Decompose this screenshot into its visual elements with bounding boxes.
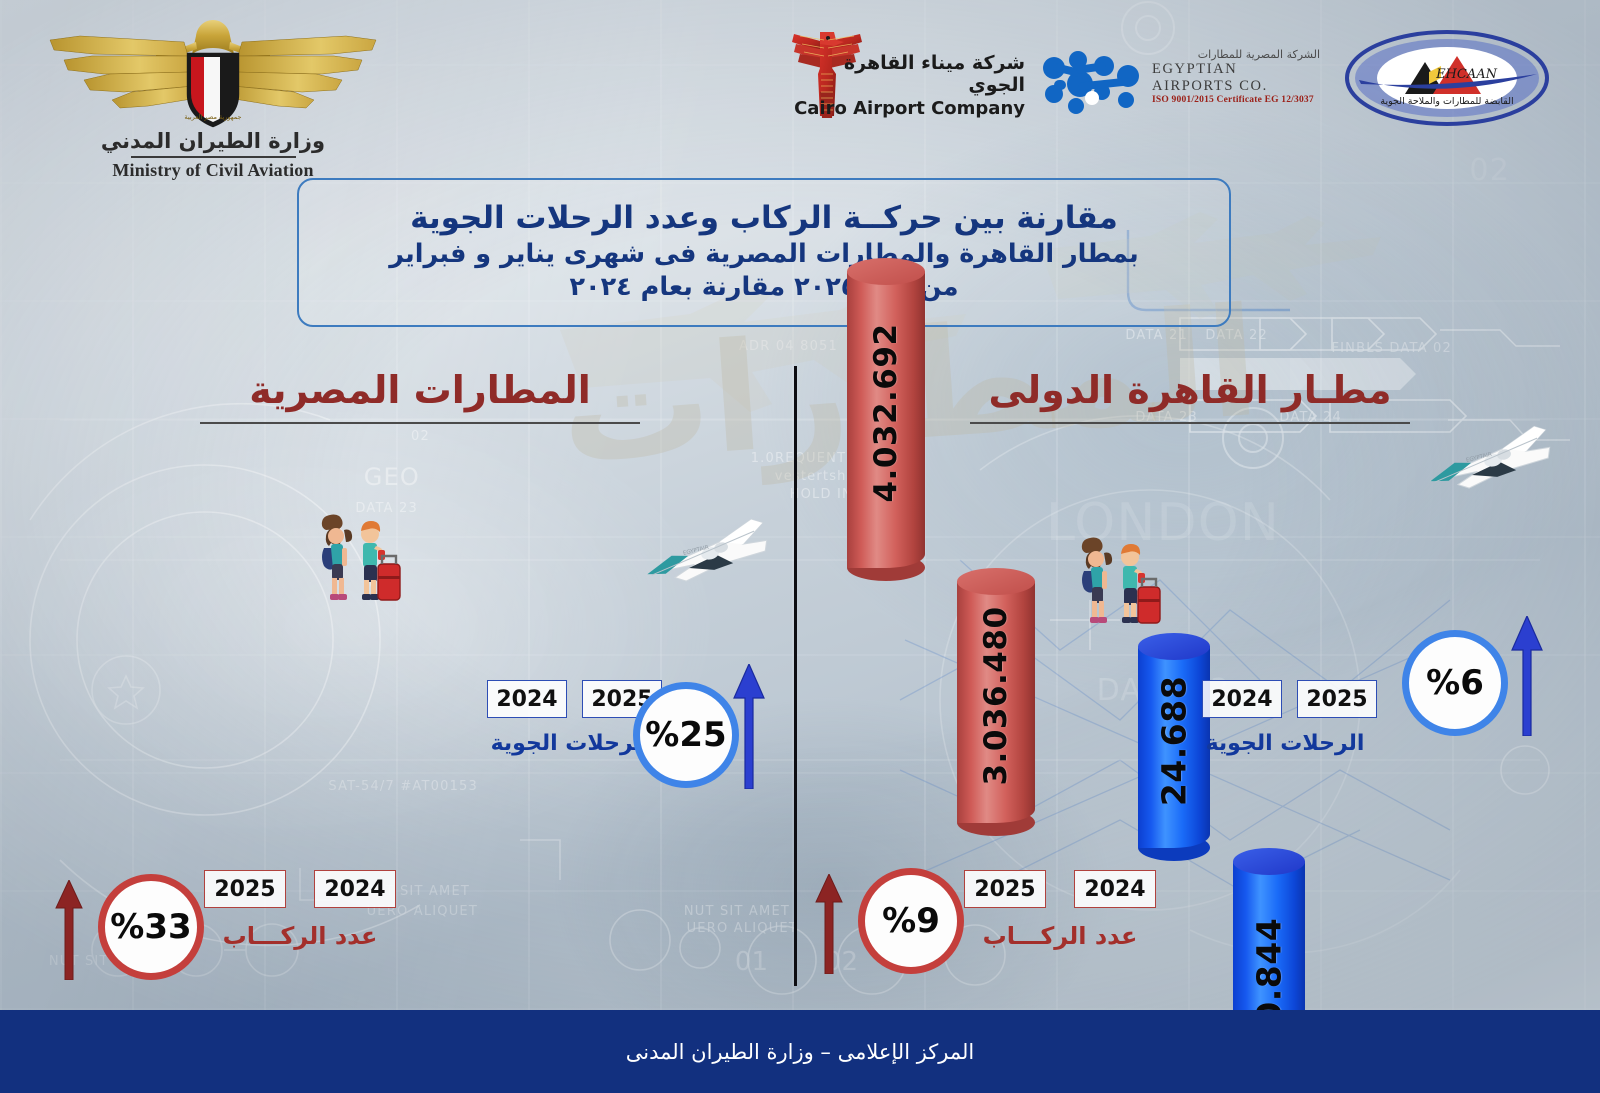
cairo-airport-header: مطـار القاهرة الدولى <box>810 368 1570 424</box>
ehcaan-english-text: EHCAAN <box>1435 67 1498 82</box>
bar-top-ellipse <box>847 258 925 285</box>
year-tag-egyptian-passengers-2024: 2024 <box>314 870 396 908</box>
svg-text:جمهورية مصر العربية: جمهورية مصر العربية <box>184 113 241 121</box>
year-tag-egyptian-flights-2024: 2024 <box>487 680 567 718</box>
up-arrow-cairo-passengers <box>814 874 844 978</box>
logo-cairo-airport-company: شركة ميناء القاهرة الجوي Cairo Airport C… <box>790 30 1025 122</box>
panel-egyptian-airports: المطارات المصرية 4.032.692 2025 3.036.48… <box>60 368 780 968</box>
up-arrow-egyptian-passengers <box>54 880 84 984</box>
egyptian-airports-iso-text: ISO 9001/2015 Certificate EG 12/3037 <box>1152 95 1320 105</box>
airplane-illustration-cairo: EGYPTAIR <box>1408 418 1556 500</box>
travelers-illustration-egyptian-passengers <box>310 514 406 610</box>
airplane-illustration-egyptian: EGYPTAIR <box>625 511 773 593</box>
egyptian-airports-title-rule <box>200 422 640 424</box>
title-line-1: مقارنة بين حركــة الركاب وعدد الرحلات ال… <box>410 200 1118 238</box>
cairo-airport-label-arabic: شركة ميناء القاهرة الجوي <box>790 52 1025 96</box>
travelers-illustration-cairo-passengers <box>1070 537 1166 633</box>
ministry-label-rule <box>131 156 296 158</box>
ministry-label-arabic: وزارة الطيران المدني <box>38 130 388 153</box>
year-tag-egyptian-passengers-2025: 2025 <box>204 870 286 908</box>
cairo-airport-label-english: Cairo Airport Company <box>790 98 1025 119</box>
footer-bar: المركز الإعلامى – وزارة الطيران المدنى <box>0 1010 1600 1093</box>
logo-egyptian-airports-co: الشركة المصرية للمطارات EGYPTIAN AIRPORT… <box>1040 48 1320 114</box>
ministry-wings-emblem: جمهورية مصر العربية <box>38 12 388 130</box>
ehcaan-emblem-icon: EHCAAN القابضة للمطارات والملاحة الجوية <box>1345 28 1550 128</box>
egyptian-airports-title: المطارات المصرية <box>60 368 780 412</box>
pct-badge-cairo-flights: %6 <box>1402 630 1508 736</box>
cairo-airport-title: مطـار القاهرة الدولى <box>810 368 1570 412</box>
year-tag-cairo-passengers-2024: 2024 <box>1074 870 1156 908</box>
egyptian-airports-mark-icon <box>1040 50 1144 114</box>
logo-ehcaan: EHCAAN القابضة للمطارات والملاحة الجوية <box>1345 28 1550 128</box>
panel-divider <box>794 366 797 986</box>
group-label-egyptian-passengers: عدد الركـــاب <box>195 922 405 950</box>
pct-badge-cairo-passengers: %9 <box>858 868 964 974</box>
main-title-box: مقارنة بين حركــة الركاب وعدد الرحلات ال… <box>297 178 1231 327</box>
group-label-cairo-passengers: عدد الركـــاب <box>955 922 1165 950</box>
year-tag-cairo-passengers-2025: 2025 <box>964 870 1046 908</box>
up-arrow-cairo-flights <box>1510 616 1544 740</box>
group-label-cairo-flights: الرحلات الجوية <box>1190 731 1380 756</box>
egyptian-airports-label-arabic: الشركة المصرية للمطارات <box>1152 48 1320 61</box>
logo-ministry-of-civil-aviation: جمهورية مصر العربية وزارة الطيران المدني… <box>38 12 388 182</box>
title-line-2: بمطار القاهرة والمطارات المصرية فى شهرى … <box>389 238 1138 271</box>
ehcaan-arabic-text: القابضة للمطارات والملاحة الجوية <box>1380 96 1513 107</box>
cairo-airport-title-rule <box>970 422 1410 424</box>
infographic-canvas: DATA 21 DATA 22 DATA 23 DATA 24 FINBLS D… <box>0 0 1600 1093</box>
up-arrow-egyptian-flights <box>732 664 766 793</box>
footer-text: المركز الإعلامى – وزارة الطيران المدنى <box>626 1040 975 1064</box>
pct-badge-egyptian-passengers: %33 <box>98 874 204 980</box>
egyptian-airports-header: المطارات المصرية <box>60 368 780 424</box>
egyptian-airports-label-english: EGYPTIAN AIRPORTS CO. <box>1152 61 1320 95</box>
pct-badge-egyptian-flights: %25 <box>633 682 739 788</box>
logo-row: جمهورية مصر العربية وزارة الطيران المدني… <box>0 0 1600 185</box>
year-tag-cairo-flights-2025: 2025 <box>1297 680 1377 718</box>
year-tag-cairo-flights-2024: 2024 <box>1202 680 1282 718</box>
panel-cairo-international-airport: مطـار القاهرة الدولى 5.007.225 2025 4.61… <box>810 368 1570 968</box>
